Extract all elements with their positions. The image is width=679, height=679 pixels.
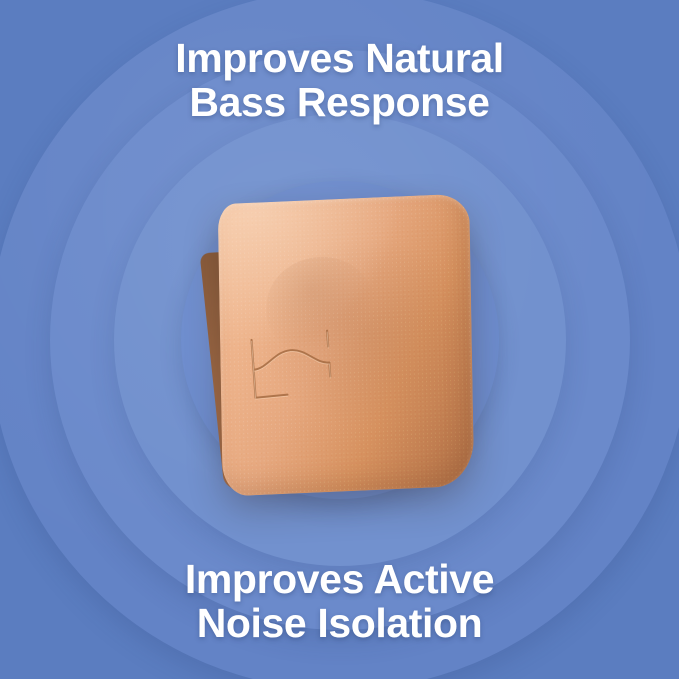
- headline-bottom-line-1: Improves Active: [0, 557, 679, 601]
- headline-bottom: Improves Active Noise Isolation: [0, 557, 679, 646]
- feature-graphic: Improves Natural Bass Response: [0, 0, 679, 679]
- brand-emboss-mark-icon: [242, 312, 370, 415]
- leather-grain-texture: [217, 193, 474, 496]
- earpad-leather-face: [217, 193, 474, 496]
- product-image-earpad: [198, 181, 498, 511]
- headline-top: Improves Natural Bass Response: [0, 36, 679, 125]
- headline-top-line-2: Bass Response: [0, 80, 679, 124]
- leather-highlight-sheen: [217, 193, 416, 363]
- headline-bottom-line-2: Noise Isolation: [0, 601, 679, 645]
- earpad-cushion-dome: [265, 254, 374, 355]
- headline-top-line-1: Improves Natural: [0, 36, 679, 80]
